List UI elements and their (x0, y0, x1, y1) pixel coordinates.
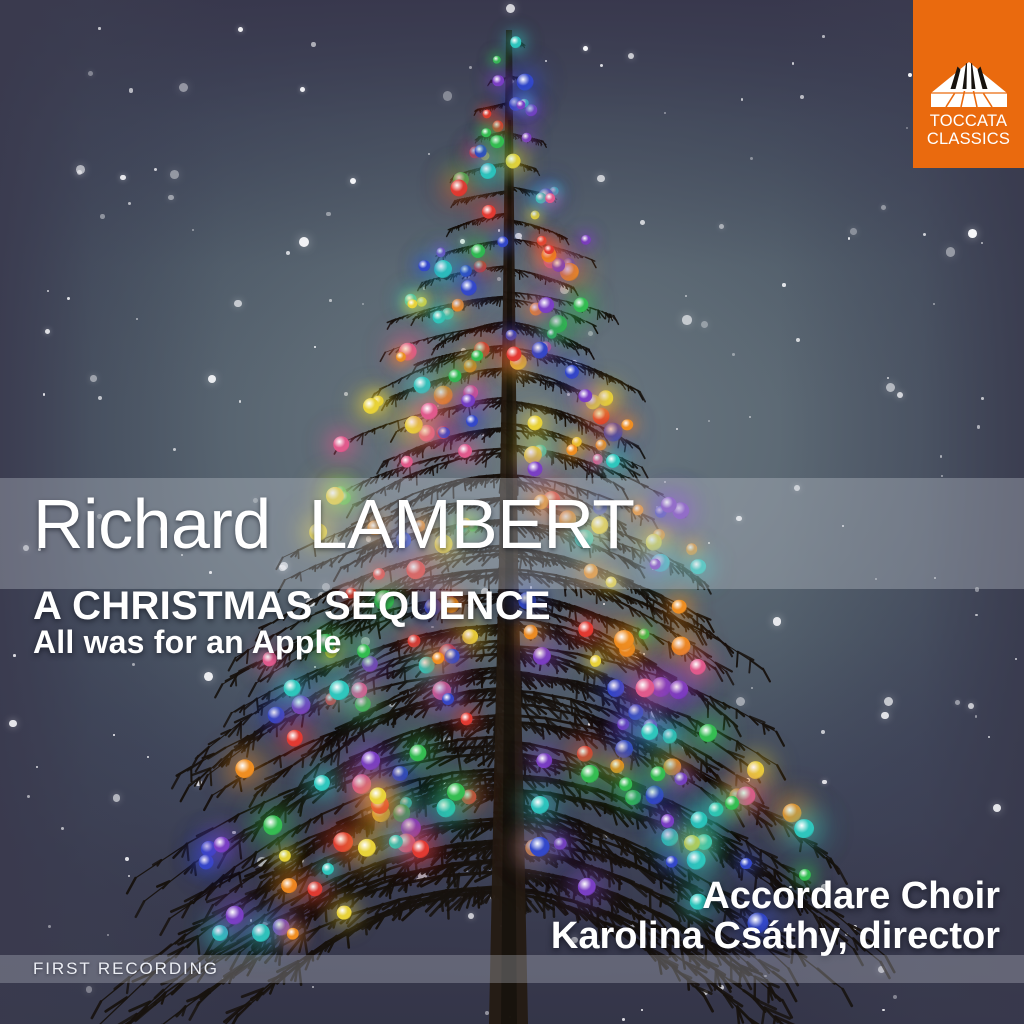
composer-first-name: Richard (33, 485, 290, 563)
toccata-classics-logo[interactable]: TOCCATA CLASSICS (913, 0, 1024, 168)
album-cover: Richard LAMBERT A CHRISTMAS SEQUENCE All… (0, 0, 1024, 1024)
work-title: A CHRISTMAS SEQUENCE (33, 586, 551, 626)
logo-wordmark: TOCCATA CLASSICS (913, 112, 1024, 149)
logo-line-2: CLASSICS (913, 130, 1024, 148)
composer-last-name: LAMBERT (309, 485, 635, 563)
piano-keyboard-icon (930, 62, 1008, 108)
composer-name: Richard LAMBERT (33, 489, 634, 559)
director-name: Karolina Csáthy, director (551, 917, 1000, 957)
logo-line-1: TOCCATA (913, 112, 1024, 130)
ensemble-name: Accordare Choir (551, 877, 1000, 917)
first-recording-badge: FIRST RECORDING (33, 959, 219, 979)
work-subtitle: All was for an Apple (33, 626, 342, 658)
performer-credits: Accordare Choir Karolina Csáthy, directo… (551, 877, 1000, 956)
